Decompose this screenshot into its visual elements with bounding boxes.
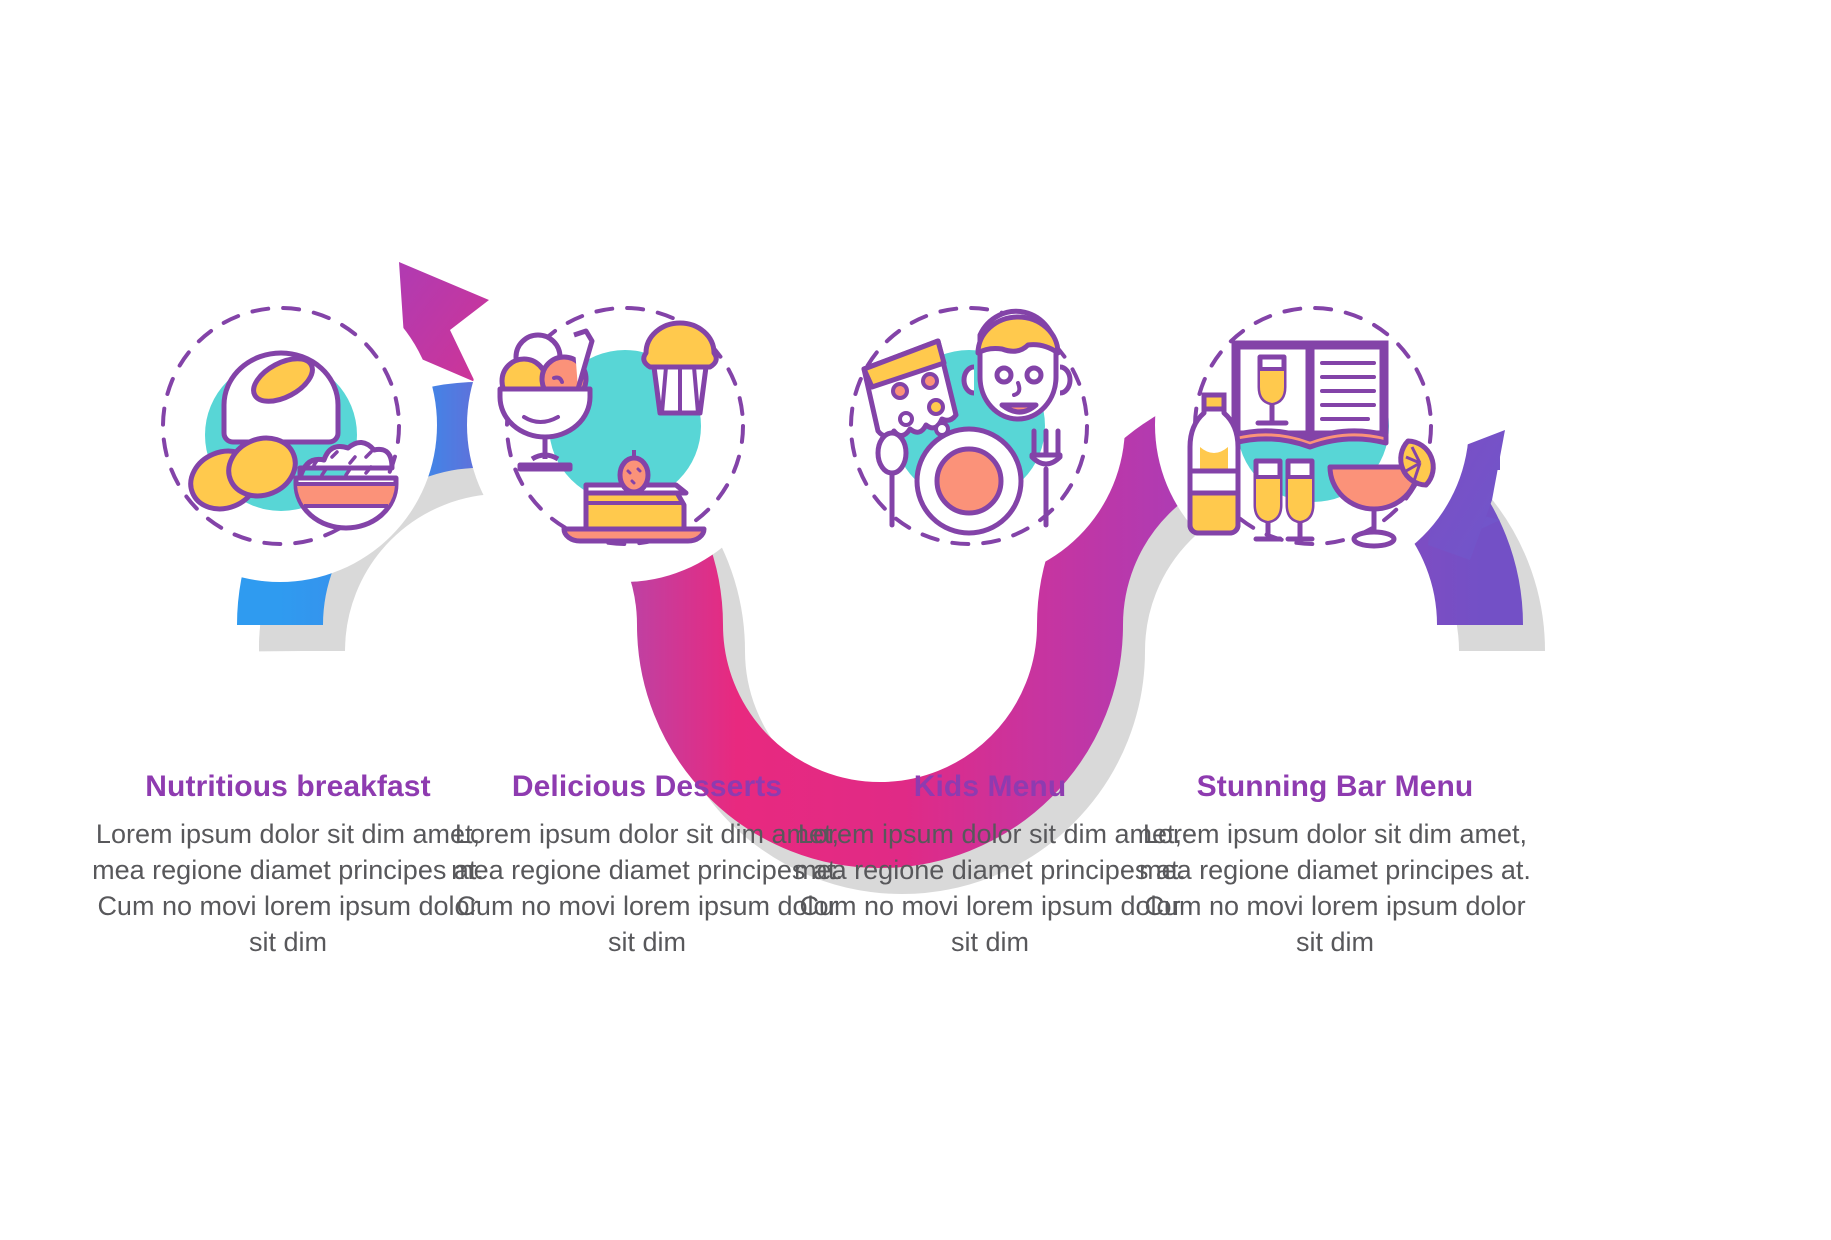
step-description-3: Lorem ipsum dolor sit dim amet, mea regi… xyxy=(790,817,1190,961)
step-column-2: Delicious Desserts Lorem ipsum dolor sit… xyxy=(447,770,847,961)
infographic-canvas: Nutritious breakfast Lorem ipsum dolor s… xyxy=(0,0,1831,1240)
step-column-4: Stunning Bar Menu Lorem ipsum dolor sit … xyxy=(1135,770,1535,961)
step-description-4: Lorem ipsum dolor sit dim amet, mea regi… xyxy=(1135,817,1535,961)
ribbon-path xyxy=(0,0,1831,1240)
breakfast-eggs-porridge-icon xyxy=(150,295,412,557)
step-title-3: Kids Menu xyxy=(790,770,1190,803)
bar-menu-champagne-cocktail-icon xyxy=(1182,295,1444,557)
step-title-1: Nutritious breakfast xyxy=(88,770,488,803)
step-description-2: Lorem ipsum dolor sit dim amet, mea regi… xyxy=(447,817,847,961)
kids-menu-pizza-child-plate-icon xyxy=(838,295,1100,557)
step-column-1: Nutritious breakfast Lorem ipsum dolor s… xyxy=(88,770,488,961)
step-description-1: Lorem ipsum dolor sit dim amet, mea regi… xyxy=(88,817,488,961)
desserts-icecream-cake-muffin-icon xyxy=(494,295,756,557)
step-title-2: Delicious Desserts xyxy=(447,770,847,803)
step-column-3: Kids Menu Lorem ipsum dolor sit dim amet… xyxy=(790,770,1190,961)
step-title-4: Stunning Bar Menu xyxy=(1135,770,1535,803)
